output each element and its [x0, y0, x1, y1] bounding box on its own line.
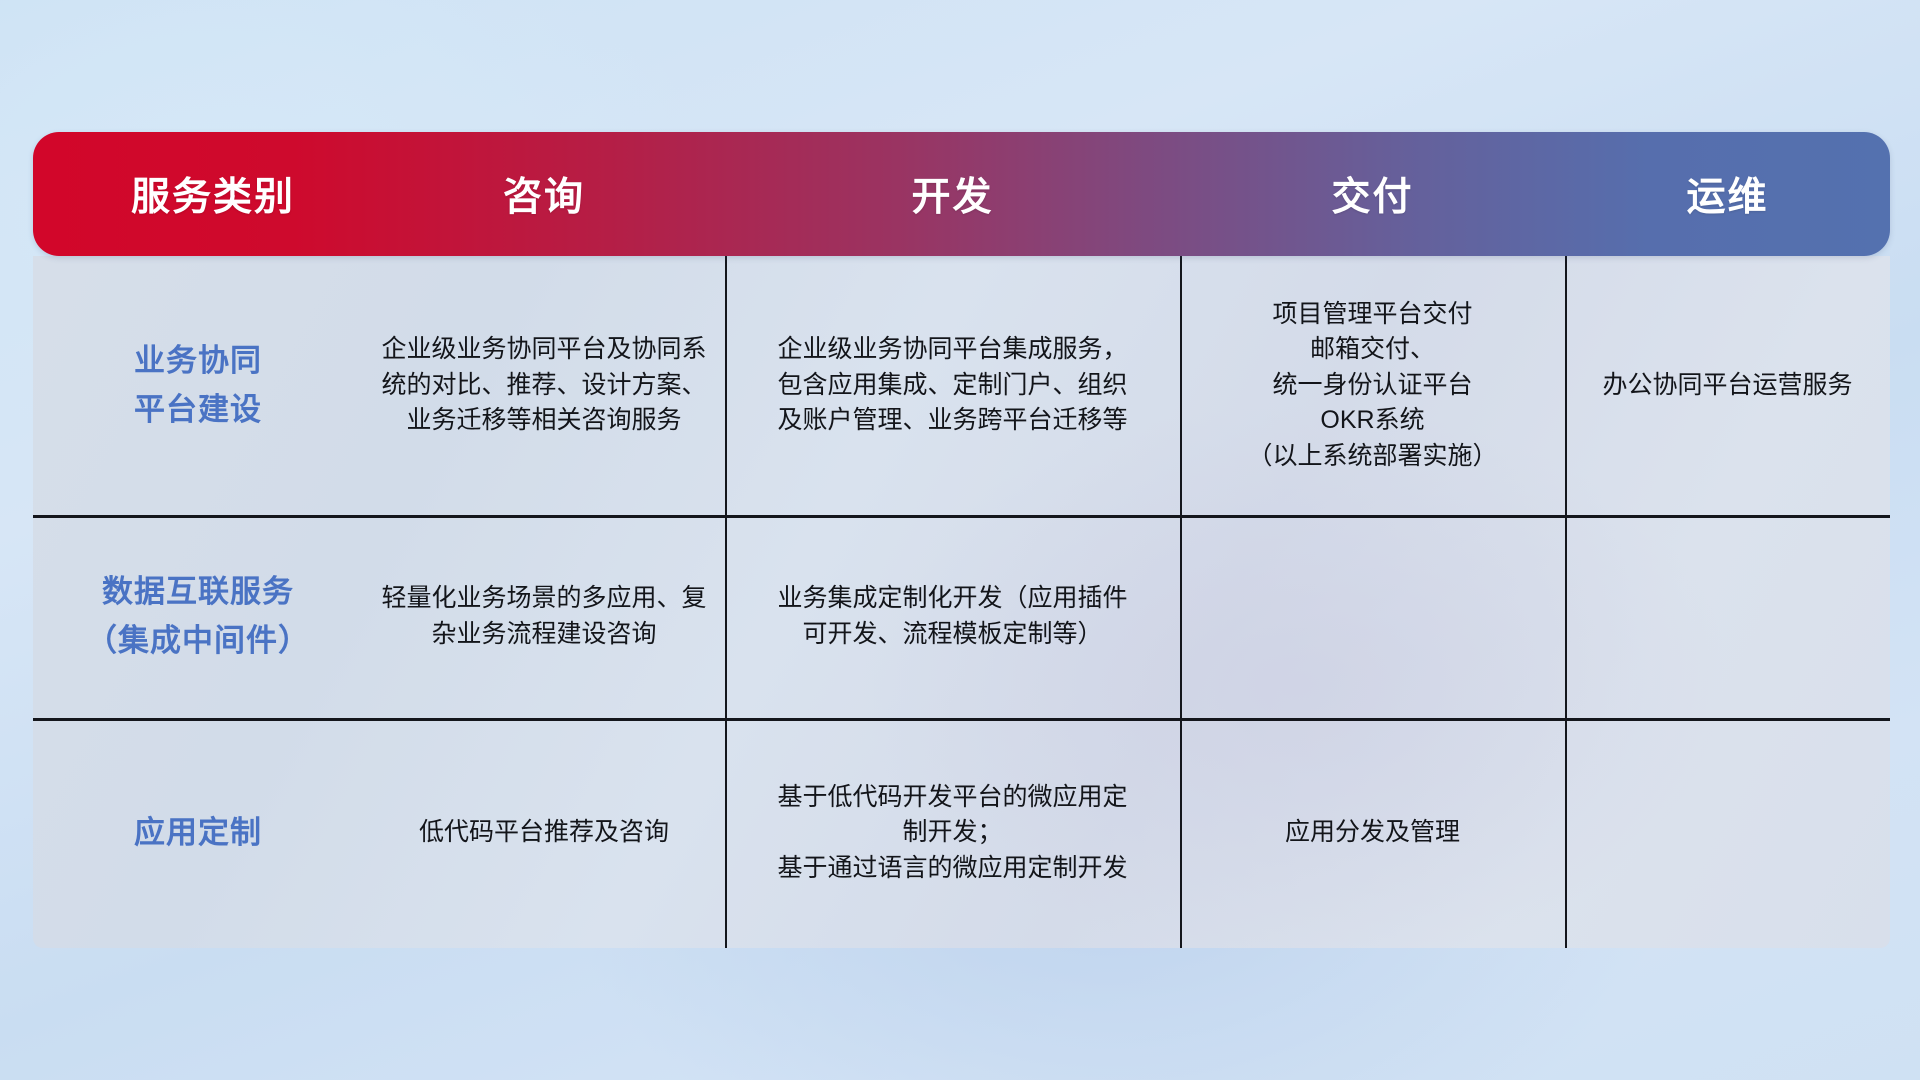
- cell-operations: 办公协同平台运营服务: [1565, 256, 1890, 515]
- cell-consulting: 低代码平台推荐及咨询: [363, 718, 725, 948]
- cell-operations: [1565, 515, 1890, 718]
- column-header-development: 开发: [725, 166, 1180, 222]
- column-header-category: 服务类别: [63, 166, 363, 222]
- table-row: 业务协同 平台建设 企业级业务协同平台及协同系 统的对比、推荐、设计方案、 业务…: [33, 256, 1890, 515]
- table-row: 数据互联服务 （集成中间件） 轻量化业务场景的多应用、复 杂业务流程建设咨询 业…: [33, 515, 1890, 718]
- cell-operations: [1565, 718, 1890, 948]
- table-header-row: 服务类别 咨询 开发 交付 运维: [33, 132, 1890, 256]
- cell-development: 基于低代码开发平台的微应用定 制开发； 基于通过语言的微应用定制开发: [725, 718, 1180, 948]
- cell-consulting: 轻量化业务场景的多应用、复 杂业务流程建设咨询: [363, 515, 725, 718]
- cell-development: 业务集成定制化开发（应用插件 可开发、流程模板定制等）: [725, 515, 1180, 718]
- column-header-delivery: 交付: [1180, 166, 1565, 222]
- cell-delivery: 应用分发及管理: [1180, 718, 1565, 948]
- cell-consulting: 企业级业务协同平台及协同系 统的对比、推荐、设计方案、 业务迁移等相关咨询服务: [363, 256, 725, 515]
- cell-delivery: [1180, 515, 1565, 718]
- cell-development: 企业级业务协同平台集成服务， 包含应用集成、定制门户、组织 及账户管理、业务跨平…: [725, 256, 1180, 515]
- cell-category: 业务协同 平台建设: [33, 256, 363, 515]
- table-row: 应用定制 低代码平台推荐及咨询 基于低代码开发平台的微应用定 制开发； 基于通过…: [33, 718, 1890, 948]
- service-matrix-table: 服务类别 咨询 开发 交付 运维 业务协同 平台建设 企业级业务协同平台及协同系…: [33, 132, 1890, 948]
- column-header-consulting: 咨询: [363, 166, 725, 222]
- column-header-operations: 运维: [1565, 166, 1890, 222]
- cell-category: 应用定制: [33, 718, 363, 948]
- page-root: 服务类别 咨询 开发 交付 运维 业务协同 平台建设 企业级业务协同平台及协同系…: [0, 0, 1920, 1080]
- cell-category: 数据互联服务 （集成中间件）: [33, 515, 363, 718]
- cell-delivery: 项目管理平台交付 邮箱交付、 统一身份认证平台 OKR系统 （以上系统部署实施）: [1180, 256, 1565, 515]
